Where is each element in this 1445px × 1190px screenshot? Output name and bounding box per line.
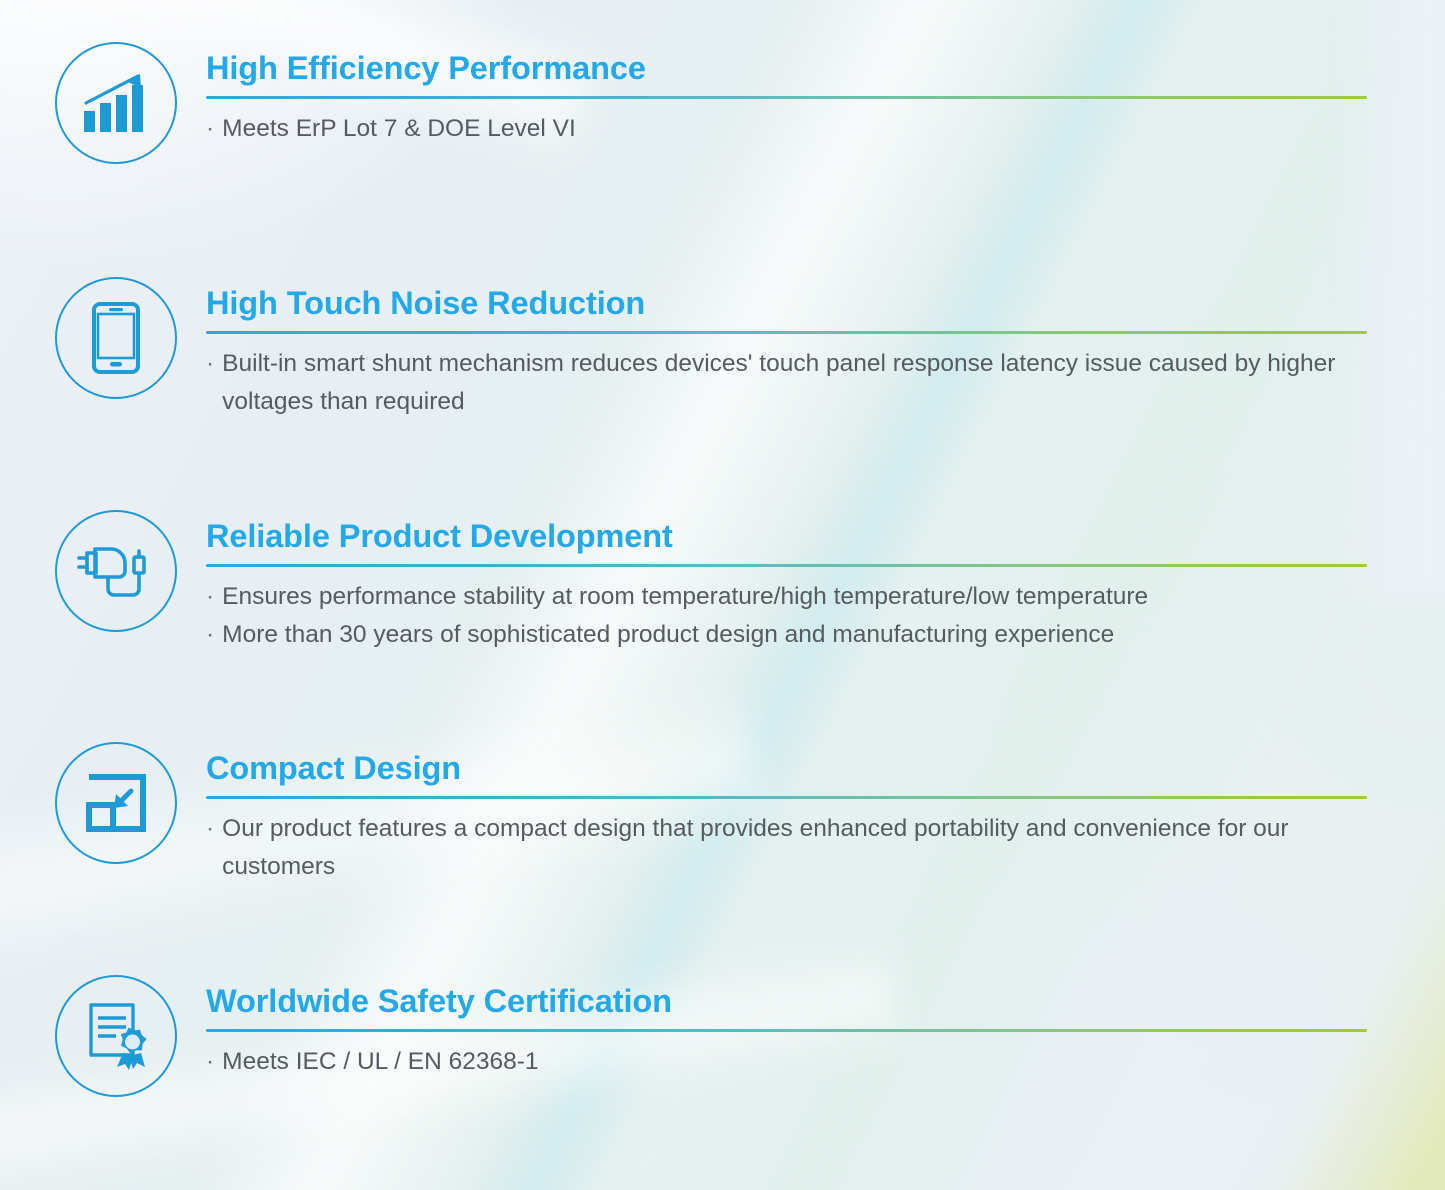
feature-divider — [206, 1029, 1367, 1032]
bullet-item: · Built-in smart shunt mechanism reduces… — [206, 345, 1367, 421]
bullet-marker: · — [206, 110, 222, 148]
feature-list: High Efficiency Performance · Meets ErP … — [0, 0, 1445, 1153]
feature-divider — [206, 564, 1367, 567]
feature-icon-container — [52, 740, 180, 864]
bullet-text: Meets IEC / UL / EN 62368-1 — [222, 1043, 1367, 1081]
feature-title: Reliable Product Development — [206, 518, 1367, 554]
feature-divider — [206, 331, 1367, 334]
smartphone-icon — [91, 302, 141, 374]
bullet-marker: · — [206, 616, 222, 654]
bullet-marker: · — [206, 810, 222, 848]
bullet-marker: · — [206, 1043, 222, 1081]
bullet-item: · Our product features a compact design … — [206, 810, 1367, 886]
feature-bullets: · Our product features a compact design … — [206, 810, 1367, 886]
bullet-text: More than 30 years of sophisticated prod… — [222, 616, 1367, 654]
icon-circle — [55, 510, 177, 632]
feature-bullets: · Meets ErP Lot 7 & DOE Level VI — [206, 110, 1367, 148]
feature-item-worldwide-safety-certification: Worldwide Safety Certification · Meets I… — [0, 973, 1445, 1153]
bullet-item: · Meets ErP Lot 7 & DOE Level VI — [206, 110, 1367, 148]
feature-title: High Efficiency Performance — [206, 50, 1367, 86]
compact-resize-icon — [84, 772, 148, 834]
bullet-item: · More than 30 years of sophisticated pr… — [206, 616, 1367, 654]
bullet-text: Our product features a compact design th… — [222, 810, 1367, 886]
feature-divider — [206, 96, 1367, 99]
feature-bullets: · Built-in smart shunt mechanism reduces… — [206, 345, 1367, 421]
feature-content: High Touch Noise Reduction · Built-in sm… — [180, 275, 1445, 421]
feature-title: Worldwide Safety Certification — [206, 983, 1367, 1019]
bullet-text: Built-in smart shunt mechanism reduces d… — [222, 345, 1367, 421]
bullet-item: · Ensures performance stability at room … — [206, 578, 1367, 616]
icon-circle — [55, 975, 177, 1097]
bullet-marker: · — [206, 345, 222, 383]
bullet-text: Meets ErP Lot 7 & DOE Level VI — [222, 110, 1367, 148]
bullet-item: · Meets IEC / UL / EN 62368-1 — [206, 1043, 1367, 1081]
feature-content: High Efficiency Performance · Meets ErP … — [180, 40, 1445, 148]
feature-icon-container — [52, 973, 180, 1097]
feature-icon-container — [52, 508, 180, 632]
feature-content: Reliable Product Development · Ensures p… — [180, 508, 1445, 654]
bullet-marker: · — [206, 578, 222, 616]
feature-item-compact-design: Compact Design · Our product features a … — [0, 740, 1445, 973]
feature-item-high-touch-noise-reduction: High Touch Noise Reduction · Built-in sm… — [0, 275, 1445, 508]
feature-item-reliable-product-development: Reliable Product Development · Ensures p… — [0, 508, 1445, 740]
icon-circle — [55, 742, 177, 864]
icon-circle — [55, 42, 177, 164]
power-adapter-icon — [77, 539, 155, 603]
feature-item-high-efficiency-performance: High Efficiency Performance · Meets ErP … — [0, 40, 1445, 275]
feature-bullets: · Meets IEC / UL / EN 62368-1 — [206, 1043, 1367, 1081]
feature-content: Compact Design · Our product features a … — [180, 740, 1445, 886]
feature-icon-container — [52, 40, 180, 164]
feature-title: High Touch Noise Reduction — [206, 285, 1367, 321]
bullet-text: Ensures performance stability at room te… — [222, 578, 1367, 616]
feature-title: Compact Design — [206, 750, 1367, 786]
feature-divider — [206, 796, 1367, 799]
bar-chart-growth-icon — [82, 71, 150, 135]
certificate-award-icon — [83, 1001, 149, 1071]
feature-icon-container — [52, 275, 180, 399]
feature-bullets: · Ensures performance stability at room … — [206, 578, 1367, 654]
feature-content: Worldwide Safety Certification · Meets I… — [180, 973, 1445, 1081]
icon-circle — [55, 277, 177, 399]
